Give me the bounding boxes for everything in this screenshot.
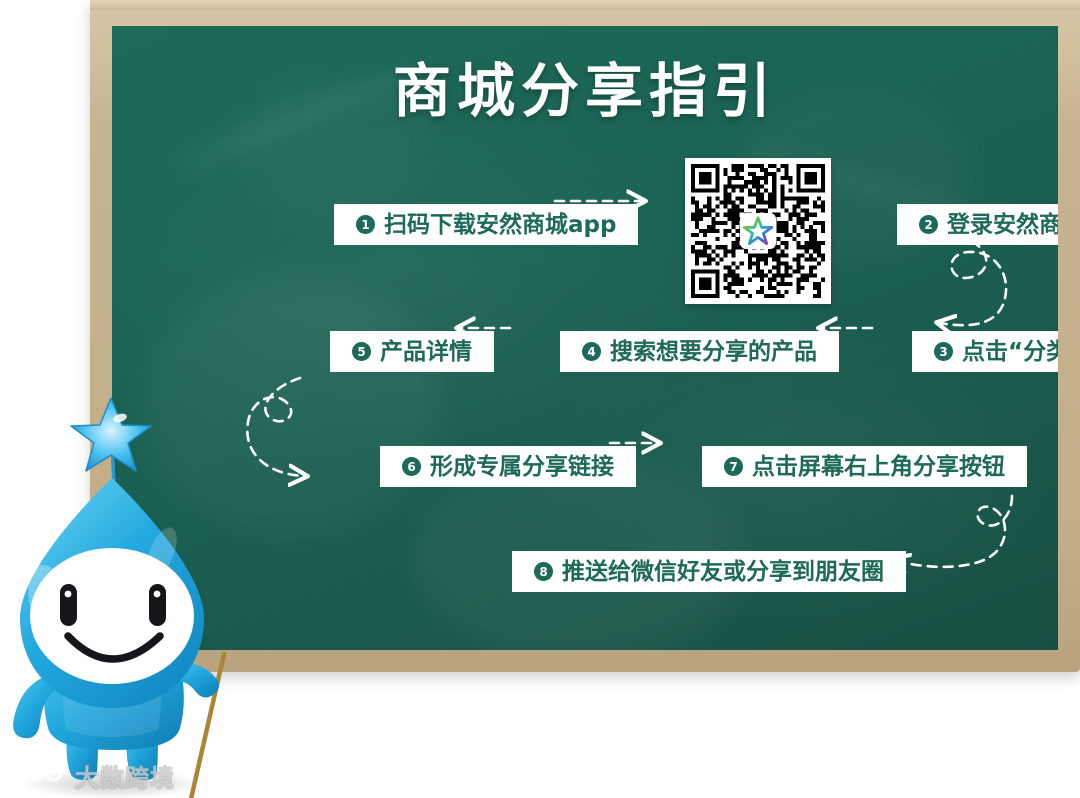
step-label-5[interactable]: 5 产品详情 — [330, 331, 494, 372]
step-text-8: 推送给微信好友或分享到朋友圈 — [562, 561, 884, 584]
step-number-7: 7 — [724, 457, 743, 476]
step-label-3[interactable]: 3 点击“分类” — [912, 331, 1058, 372]
step-text-6: 形成专属分享链接 — [430, 456, 614, 479]
step-number-3: 3 — [934, 342, 953, 361]
blue-droplet-mascot — [0, 392, 242, 798]
step-number-2: 2 — [919, 215, 938, 234]
arrow-step2-to-step3 — [940, 241, 1006, 325]
step-number-6: 6 — [402, 457, 421, 476]
arrow-step7-to-step8 — [894, 496, 1012, 567]
step-text-3: 点击“分类” — [962, 341, 1058, 364]
step-number-4: 4 — [582, 342, 601, 361]
step-label-4[interactable]: 4 搜索想要分享的产品 — [560, 331, 839, 372]
step-number-8: 8 — [534, 562, 553, 581]
qr-code[interactable] — [685, 158, 831, 304]
dashu-kuajing-logo-icon — [10, 761, 68, 789]
watermark-text: 大数跨境 — [75, 758, 175, 793]
step-label-8[interactable]: 8 推送给微信好友或分享到朋友圈 — [512, 551, 906, 592]
step-number-5: 5 — [352, 342, 371, 361]
step-number-1: 1 — [356, 215, 375, 234]
step-label-7[interactable]: 7 点击屏幕右上角分享按钮 — [702, 446, 1027, 487]
page-title: 商城分享指引 — [112, 44, 1058, 128]
step-text-1: 扫码下载安然商城app — [384, 214, 616, 237]
step-text-5: 产品详情 — [380, 341, 472, 364]
step-label-1[interactable]: 1 扫码下载安然商城app — [334, 204, 638, 245]
watermark: 大数跨境 — [10, 758, 175, 792]
step-label-2[interactable]: 2 登录安然商城 — [897, 204, 1058, 245]
blackboard-surface: 商城分享指引 — [112, 26, 1058, 650]
star-antenna-icon — [71, 398, 151, 484]
step-text-4: 搜索想要分享的产品 — [610, 341, 817, 364]
step-text-2: 登录安然商城 — [947, 214, 1058, 237]
step-label-6[interactable]: 6 形成专属分享链接 — [380, 446, 636, 487]
mascot-face — [30, 548, 194, 684]
colorful-star-logo — [740, 213, 776, 249]
step-text-7: 点击屏幕右上角分享按钮 — [752, 456, 1005, 479]
